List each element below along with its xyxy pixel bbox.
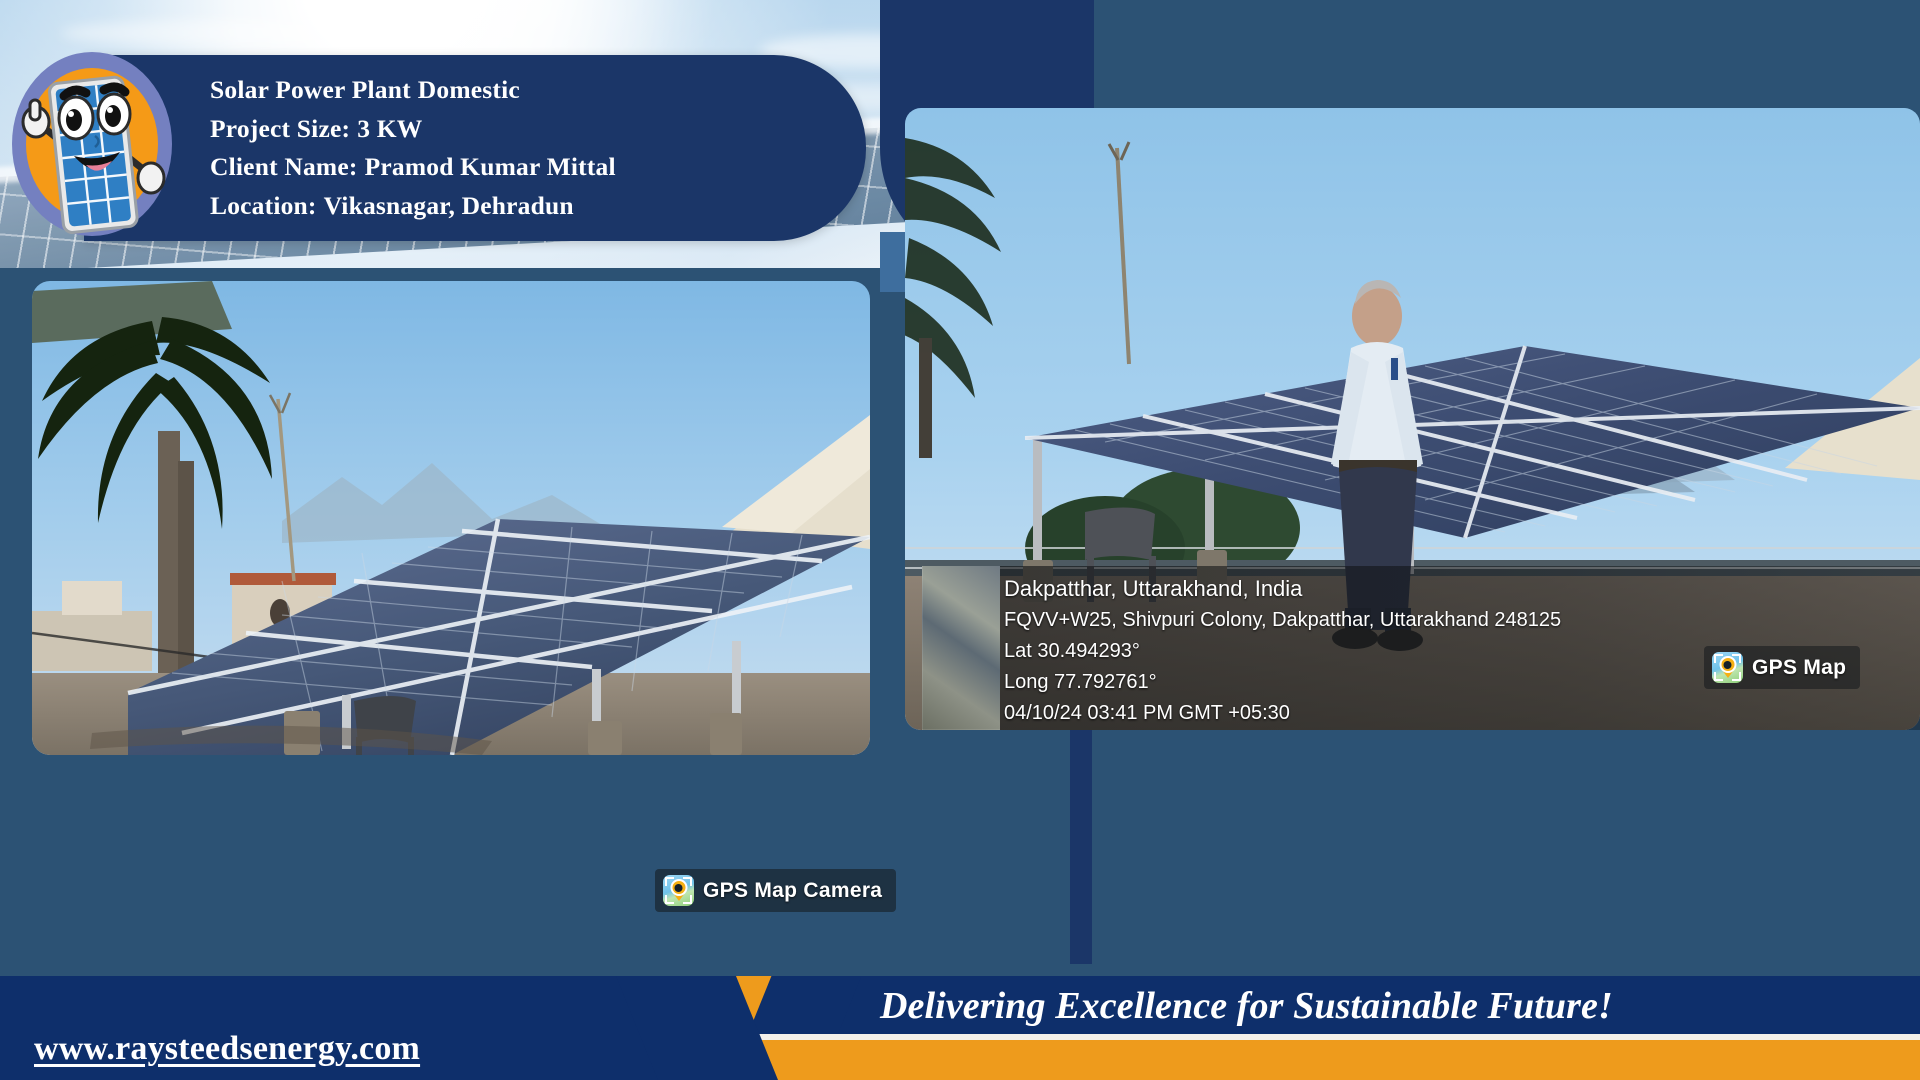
mascot-artwork: [12, 52, 172, 236]
project-size-label: Project Size:: [210, 114, 350, 143]
gps-place: Dakpatthar, Uttarakhand, India: [1000, 572, 1920, 605]
footer: www.raysteedsenergy.com Delivering Excel…: [0, 976, 1920, 1080]
solar-panel-mascot-icon: [12, 52, 172, 236]
client-name-value: Pramod Kumar Mittal: [365, 152, 616, 181]
gps-address: FQVV+W25, Shivpuri Colony, Dakpatthar, U…: [1000, 605, 1920, 636]
gps-map-camera-watermark-left: GPS Map Camera: [655, 869, 896, 912]
location-row: Location:Vikasnagar, Dehradun: [210, 187, 850, 226]
photo-left-artwork: [32, 281, 870, 755]
project-type-value: Domestic: [418, 75, 520, 104]
location-value: Vikasnagar, Dehradun: [324, 191, 574, 220]
project-photo-left: [32, 281, 870, 755]
gps-map-image: [922, 566, 1000, 730]
watermark-label: GPS Map Camera: [703, 879, 882, 903]
poster-canvas: Solar Power PlantDomestic Project Size:3…: [0, 0, 1920, 1080]
client-name-row: Client Name:Pramod Kumar Mittal: [210, 148, 850, 187]
location-label: Location:: [210, 191, 317, 220]
gps-map-camera-icon: [1712, 652, 1743, 683]
gps-map-thumbnail: [922, 566, 1000, 730]
watermark-label: GPS Map: [1752, 656, 1846, 680]
website-link[interactable]: www.raysteedsenergy.com: [34, 1030, 420, 1068]
project-info-text: Solar Power PlantDomestic Project Size:3…: [210, 71, 850, 225]
navy-divider-bottom: [1070, 730, 1092, 988]
gps-map-camera-icon: [663, 875, 694, 906]
project-size-row: Project Size:3 KW: [210, 110, 850, 149]
cloud: [60, 20, 390, 46]
footer-tagline: Delivering Excellence for Sustainable Fu…: [880, 984, 1613, 1028]
project-type-row: Solar Power PlantDomestic: [210, 71, 850, 110]
footer-divider-notch: [1070, 964, 1092, 976]
project-info-card: Solar Power PlantDomestic Project Size:3…: [84, 55, 866, 241]
project-size-value: 3 KW: [357, 114, 422, 143]
client-name-label: Client Name:: [210, 152, 358, 181]
gps-timestamp: 04/10/24 03:41 PM GMT +05:30: [1000, 698, 1920, 729]
gps-map-camera-watermark-right: GPS Map: [1704, 646, 1860, 689]
project-type-label: Solar Power Plant: [210, 75, 411, 104]
navy-divider-top: [1070, 0, 1094, 112]
